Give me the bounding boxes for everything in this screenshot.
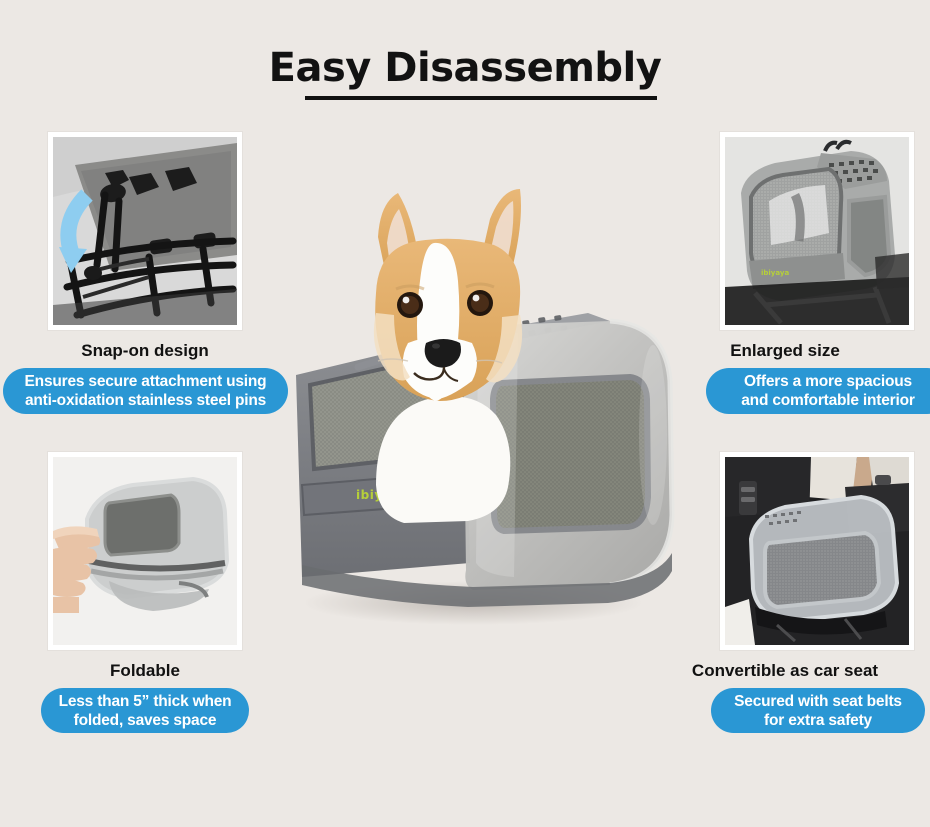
infographic-page: Easy Disassembly: [0, 0, 930, 827]
svg-text:ibiyaya: ibiyaya: [761, 269, 789, 277]
feature-convertible-car-seat: Convertible as car seat Secured with sea…: [640, 452, 930, 733]
feature-title: Convertible as car seat: [640, 660, 930, 682]
badge-line-2: anti-oxidation stainless steel pins: [25, 391, 267, 410]
feature-foldable: Foldable Less than 5” thick when folded,…: [0, 452, 290, 733]
badge-line-2: folded, saves space: [59, 711, 232, 730]
page-title-wrap: Easy Disassembly: [0, 44, 930, 92]
feature-title: Snap-on design: [0, 340, 290, 362]
feature-snap-on-design: Snap-on design Ensures secure attachment…: [0, 132, 290, 414]
badge-line-1: Secured with seat belts: [734, 692, 902, 711]
badge-line-2: for extra safety: [734, 711, 902, 730]
folded-carrier-in-hand-photo: [48, 452, 242, 650]
badge-line-1: Less than 5” thick when: [59, 692, 232, 711]
feature-enlarged-size: ibiyaya Enlarged size: [640, 132, 930, 414]
badge-line-1: Offers a more spacious: [741, 372, 914, 391]
carrier-on-stroller-photo: ibiyaya: [720, 132, 914, 330]
feature-badge: Offers a more spacious and comfortable i…: [706, 368, 930, 414]
corgi-dog: [374, 189, 522, 523]
page-title: Easy Disassembly: [0, 44, 930, 92]
feature-title: Enlarged size: [640, 340, 930, 362]
carrier-on-car-seat-photo: [720, 452, 914, 650]
feature-badge: Secured with seat belts for extra safety: [711, 688, 925, 733]
feature-title: Foldable: [0, 660, 290, 682]
title-underline: [305, 96, 657, 100]
badge-line-2: and comfortable interior: [741, 391, 914, 410]
snap-on-fittings-photo: [48, 132, 242, 330]
feature-badge: Ensures secure attachment using anti-oxi…: [3, 368, 288, 414]
badge-line-1: Ensures secure attachment using: [25, 372, 267, 391]
hero-product-image: ibiyaya: [258, 185, 688, 635]
feature-badge: Less than 5” thick when folded, saves sp…: [41, 688, 249, 733]
